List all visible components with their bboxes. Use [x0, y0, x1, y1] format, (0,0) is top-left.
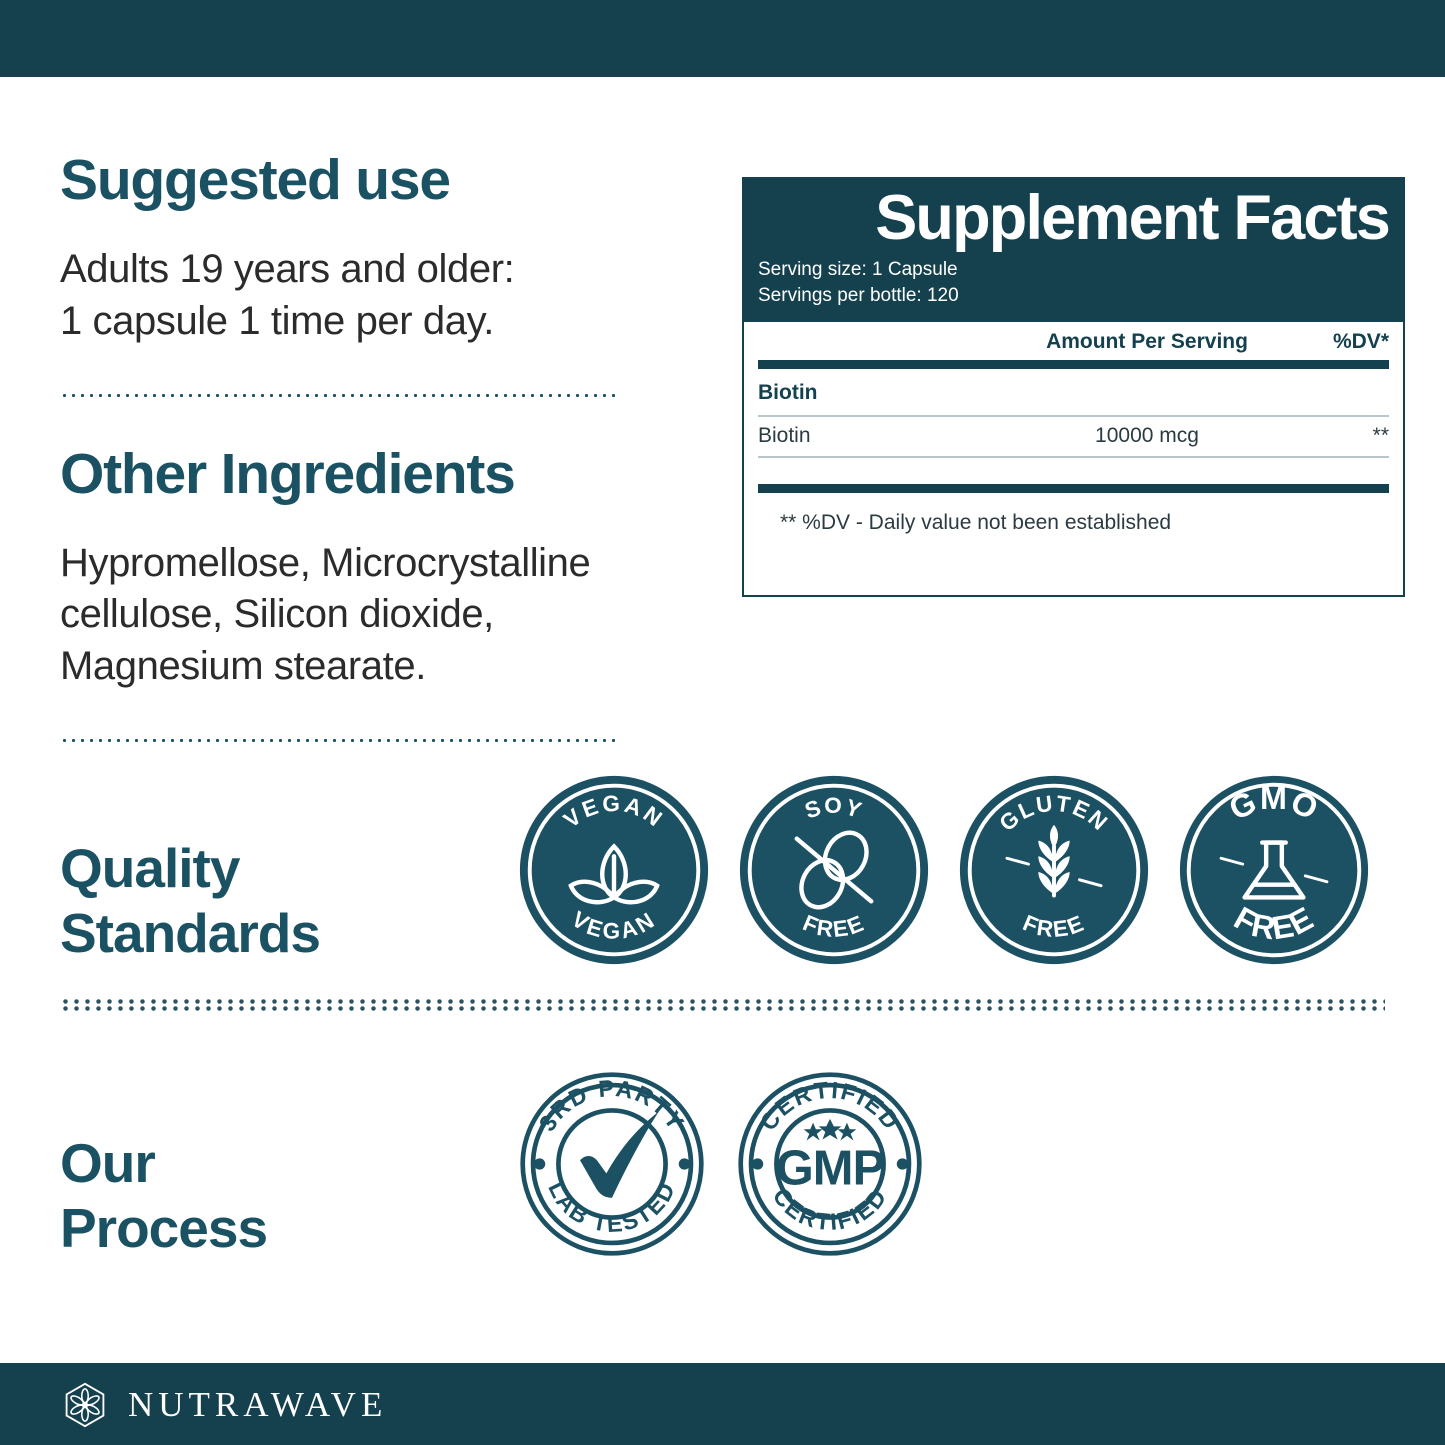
checkmark-icon [580, 1111, 659, 1197]
our-process-heading: Our Process [60, 1131, 267, 1261]
percent-dv-header: %DV* [1297, 330, 1389, 354]
badge-vegan: VEGAN VEGAN [516, 772, 712, 968]
badge-gluten-free: GLUTEN FREE [956, 772, 1152, 968]
table-rule-top [758, 360, 1389, 369]
supplement-facts-panel: Supplement Facts Serving size: 1 Capsule… [742, 177, 1405, 597]
badge-soy-free: SOY FREE [736, 772, 932, 968]
nutrient-amount: 10000 mcg [997, 424, 1297, 448]
suggested-use-heading: Suggested use [60, 150, 700, 210]
badge-third-party-top-text: 3RD PARTY [534, 1075, 690, 1136]
supplement-facts-title: Supplement Facts [758, 185, 1389, 251]
badge-third-party-lab-tested: 3RD PARTY LAB TESTED [518, 1070, 706, 1258]
table-row: Biotin 10000 mcg ** [758, 417, 1389, 456]
badge-gmp-certified: CERTIFIED CERTIFIED GMP [736, 1070, 924, 1258]
serving-size-text: Serving size: 1 Capsule [758, 257, 1389, 283]
table-rule-bottom [758, 484, 1389, 493]
supplement-facts-table: Amount Per Serving %DV* Biotin Biotin 10… [744, 322, 1403, 535]
badge-gmp-center-text: GMP [776, 1142, 885, 1196]
quality-badges-row: VEGAN VEGAN SOY FREE [516, 772, 1372, 968]
process-badges-row: 3RD PARTY LAB TESTED CERTIFIED CERTIFIED… [518, 1070, 924, 1258]
top-accent-bar [0, 0, 1445, 77]
bullet-dot-right [897, 1158, 908, 1169]
other-ingredients-heading: Other Ingredients [60, 444, 700, 504]
suggested-use-body: Adults 19 years and older: 1 capsule 1 t… [60, 244, 700, 346]
three-stars-icon [804, 1119, 857, 1141]
amount-per-serving-header: Amount Per Serving [997, 330, 1297, 354]
supplement-facts-footnote: ** %DV - Daily value not been establishe… [758, 493, 1389, 535]
brand-name: NUTRAWAVE [128, 1385, 387, 1425]
servings-per-bottle-text: Servings per bottle: 120 [758, 283, 1389, 309]
nutrient-group-label: Biotin [758, 369, 1389, 415]
supplement-facts-header: Supplement Facts Serving size: 1 Capsule… [744, 179, 1403, 322]
left-content-column: Suggested use Adults 19 years and older:… [60, 150, 700, 743]
footer-brand: NUTRAWAVE [62, 1382, 387, 1428]
divider-dotted-2 [60, 738, 620, 743]
badge-gmo-free: GMO FREE [1176, 772, 1372, 968]
other-ingredients-body: Hypromellose, Microcrystalline cellulose… [60, 538, 700, 692]
bullet-dot-right [679, 1158, 690, 1169]
quality-standards-heading: Quality Standards [60, 836, 320, 966]
table-column-headers: Amount Per Serving %DV* [758, 322, 1389, 360]
bullet-dot-left [534, 1158, 545, 1169]
bullet-dot-left [752, 1158, 763, 1169]
nutrient-dv: ** [1297, 424, 1389, 448]
divider-dotted-wide [60, 998, 1385, 1012]
nutrient-name: Biotin [758, 424, 997, 448]
hexagon-flower-logo [62, 1382, 108, 1428]
